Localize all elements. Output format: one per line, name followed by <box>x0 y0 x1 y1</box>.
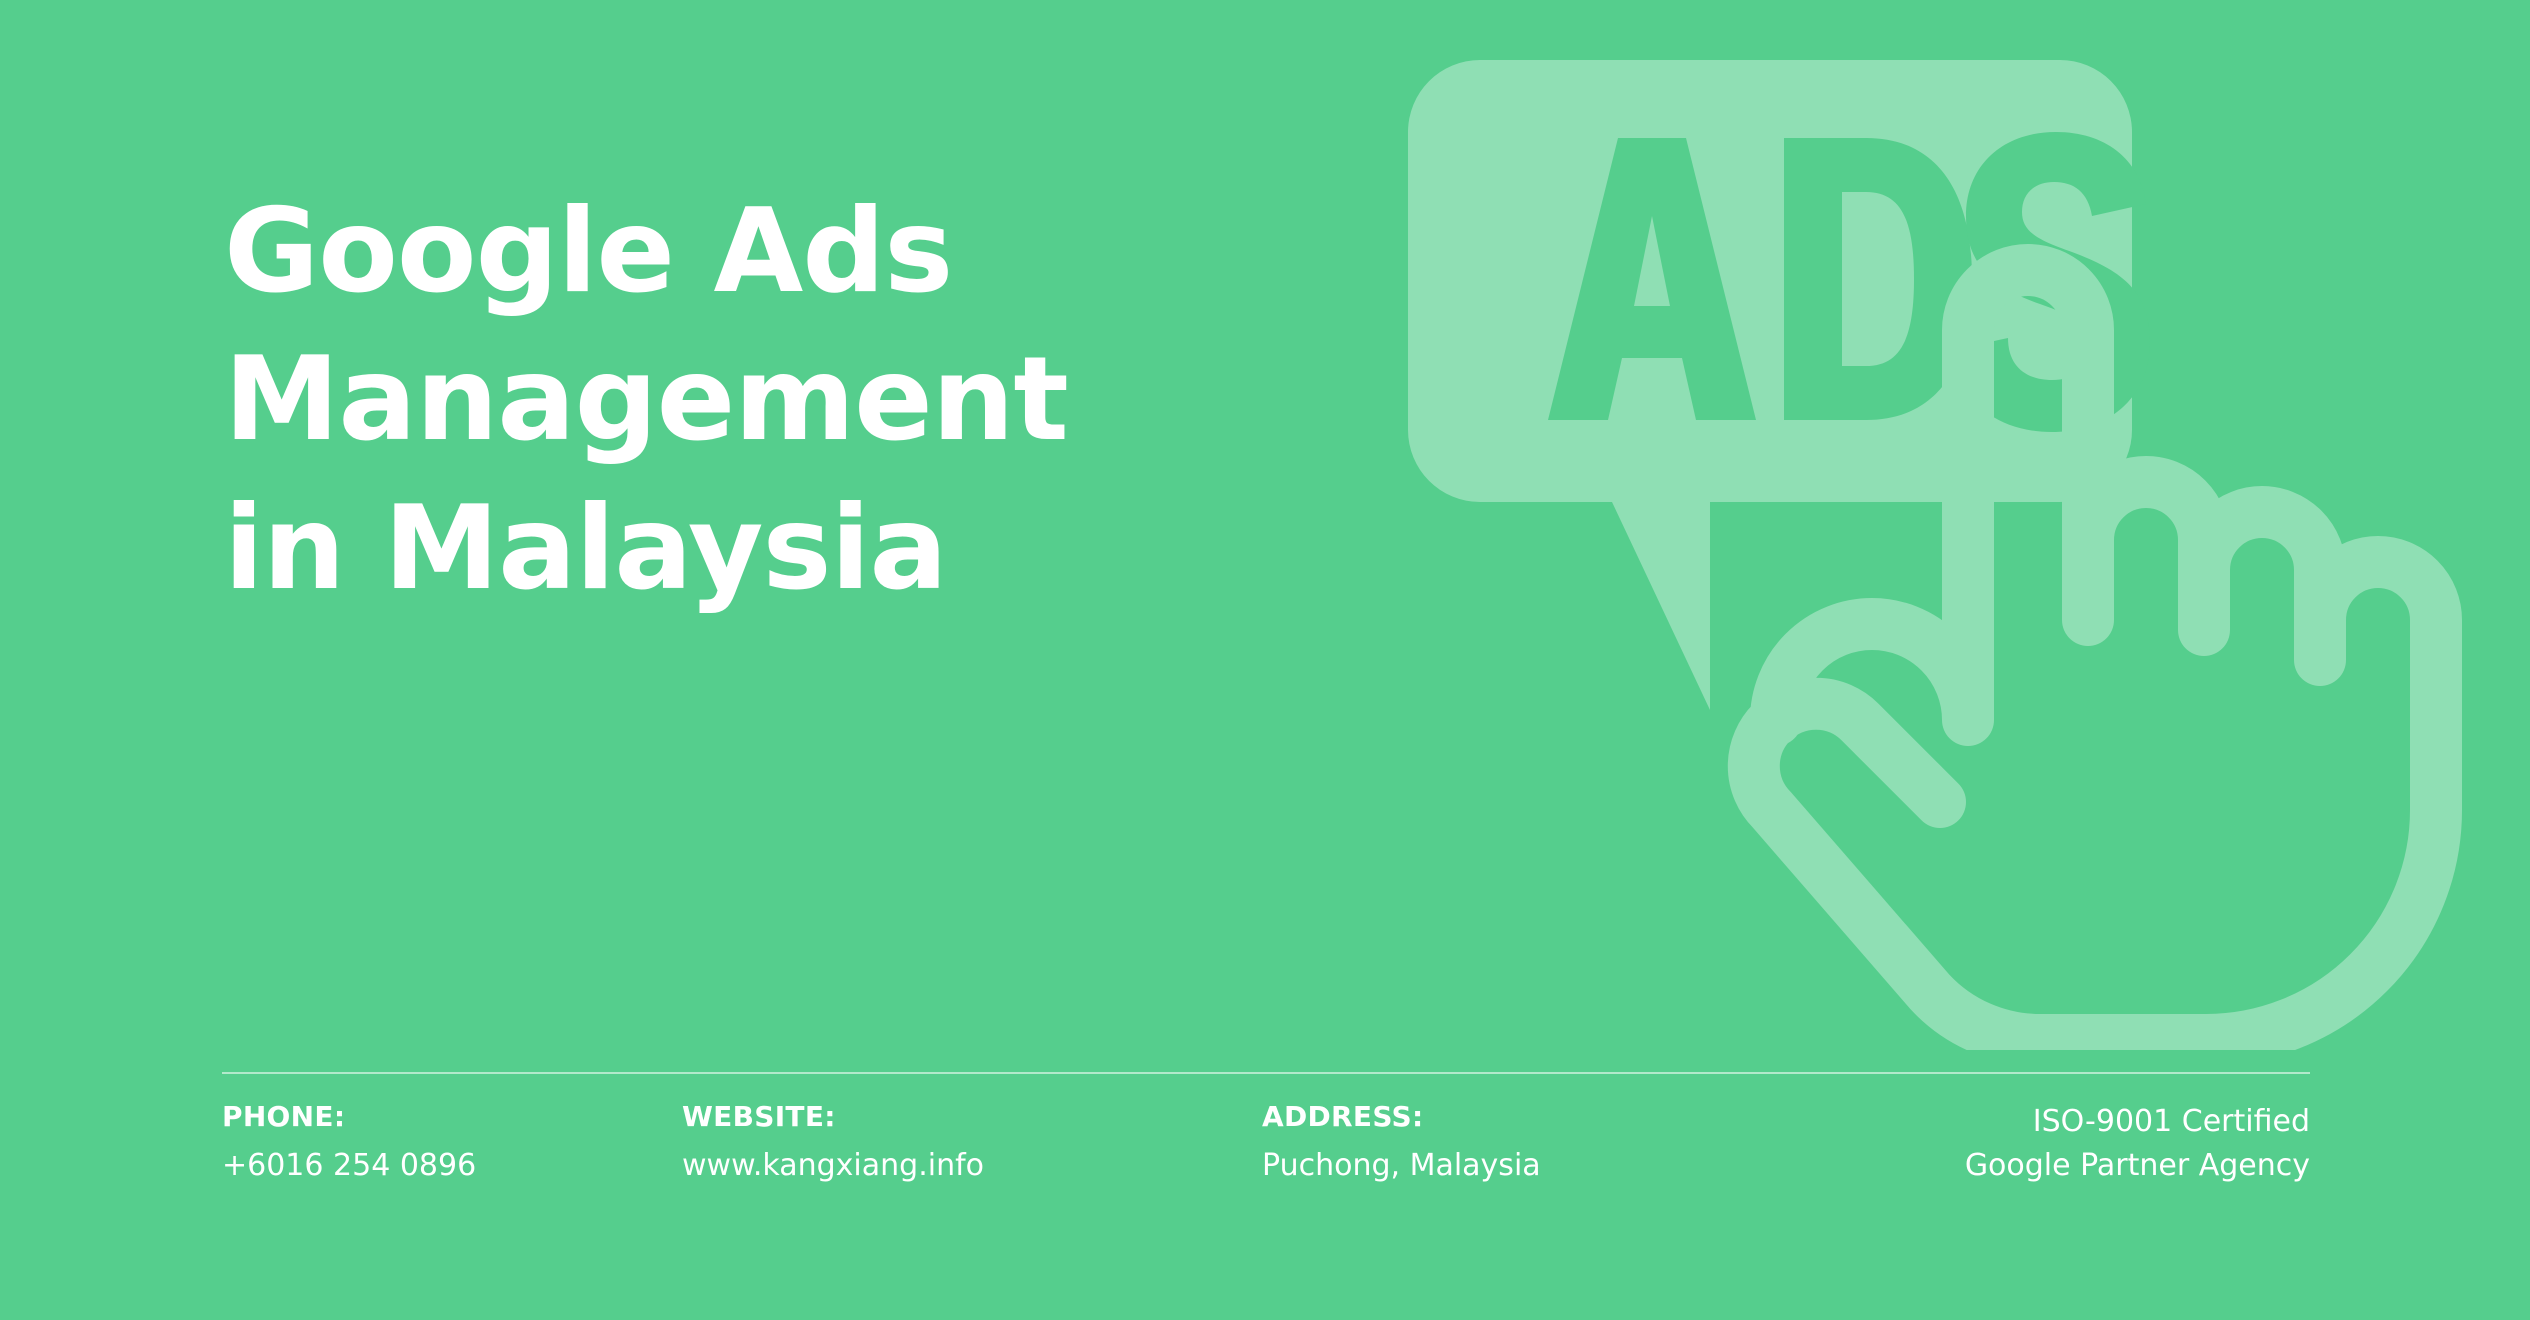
footer-address-label: ADDRESS: <box>1262 1100 1541 1133</box>
footer-website-value[interactable]: www.kangxiang.info <box>682 1148 984 1183</box>
footer-certification: ISO-9001 Certified Google Partner Agency <box>1965 1100 2310 1187</box>
footer: PHONE: +6016 254 0896 WEBSITE: www.kangx… <box>222 1100 2310 1220</box>
headline-line-1: Google Ads <box>224 178 1424 326</box>
headline-line-3: in Malaysia <box>224 475 1424 623</box>
headline-line-2: Management <box>224 326 1424 474</box>
page-title: Google Ads Management in Malaysia <box>224 178 1424 623</box>
footer-phone: PHONE: +6016 254 0896 <box>222 1100 476 1183</box>
footer-phone-label: PHONE: <box>222 1100 476 1133</box>
footer-phone-value[interactable]: +6016 254 0896 <box>222 1148 476 1183</box>
certification-line-2: Google Partner Agency <box>1965 1144 2310 1188</box>
certification-line-1: ISO-9001 Certified <box>1965 1100 2310 1144</box>
footer-address: ADDRESS: Puchong, Malaysia <box>1262 1100 1541 1183</box>
footer-divider <box>222 1072 2310 1074</box>
footer-address-value: Puchong, Malaysia <box>1262 1148 1541 1183</box>
hand-pointer-with-ads-speech-bubble-icon <box>1380 20 2510 1050</box>
promotional-banner: Google Ads Management in Malaysia PHONE: <box>0 0 2530 1320</box>
footer-website: WEBSITE: www.kangxiang.info <box>682 1100 984 1183</box>
footer-website-label: WEBSITE: <box>682 1100 984 1133</box>
